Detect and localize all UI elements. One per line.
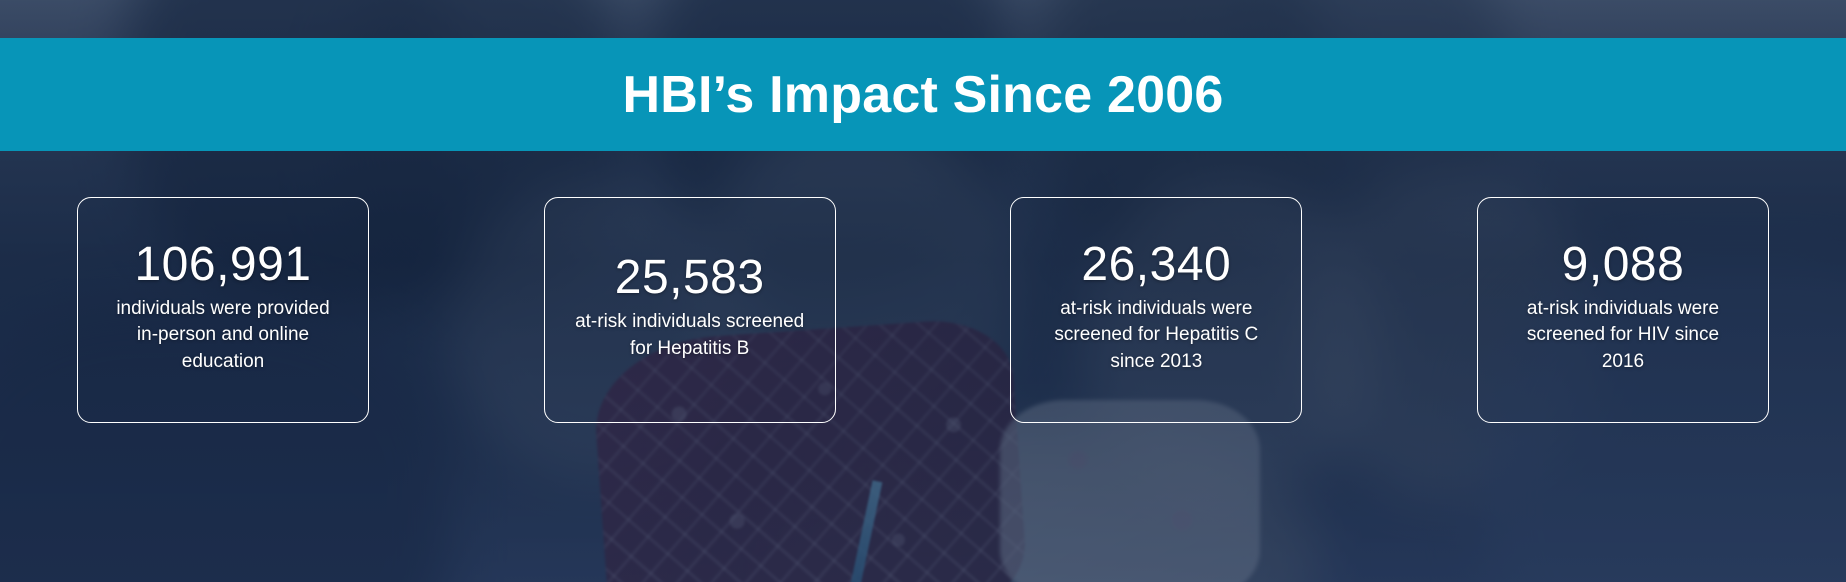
page-title: HBI’s Impact Since 2006: [623, 69, 1224, 121]
stat-card: 9,088 at-risk individuals were screened …: [1477, 197, 1769, 423]
title-banner: HBI’s Impact Since 2006: [0, 38, 1846, 151]
stat-card: 106,991 individuals were provided in-per…: [77, 197, 369, 423]
stat-number: 9,088: [1562, 240, 1685, 290]
stat-card: 25,583 at-risk individuals screened for …: [544, 197, 836, 423]
impact-hero-banner: HBI’s Impact Since 2006 106,991 individu…: [0, 0, 1846, 582]
stat-card-list: 106,991 individuals were provided in-per…: [77, 197, 1769, 423]
stat-card: 26,340 at-risk individuals were screened…: [1010, 197, 1302, 423]
stat-number: 106,991: [134, 240, 311, 290]
stat-caption: at-risk individuals were screened for HI…: [1508, 296, 1738, 377]
stat-caption: at-risk individuals were screened for He…: [1041, 296, 1271, 377]
stat-number: 25,583: [615, 253, 765, 303]
stat-caption: individuals were provided in-person and …: [108, 296, 338, 377]
stat-number: 26,340: [1081, 240, 1231, 290]
stat-caption: at-risk individuals screened for Hepatit…: [575, 309, 805, 363]
